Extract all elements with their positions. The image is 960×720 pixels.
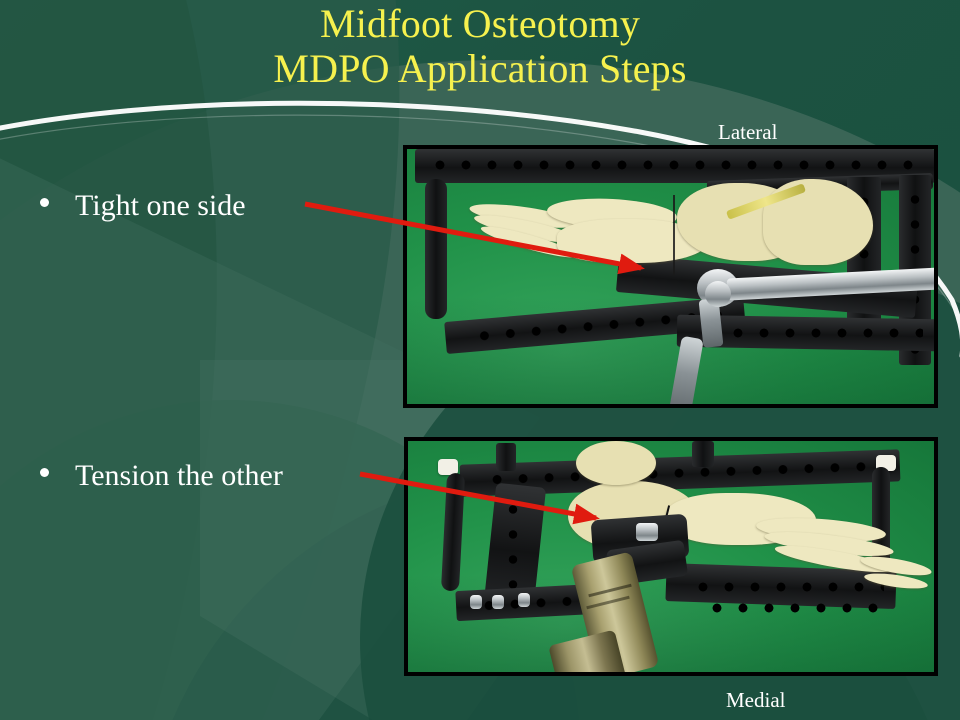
bullet-label: Tight one side	[75, 189, 246, 223]
fixator-bottom-rail-right-holes	[693, 323, 923, 343]
label-medial: Medial	[726, 688, 785, 713]
fixator-left-plate-holes	[500, 493, 526, 597]
title-line-2: MDPO Application Steps	[0, 47, 960, 92]
bullet-marker-icon	[40, 468, 49, 477]
lateral-view-photo	[403, 145, 938, 408]
clamp-fastener	[470, 595, 482, 609]
title-line-1: Midfoot Osteotomy	[320, 1, 640, 46]
presentation-slide: Midfoot Osteotomy MDPO Application Steps…	[0, 0, 960, 720]
clamp-fastener	[518, 593, 530, 607]
tibia-bone	[576, 441, 656, 485]
label-lateral: Lateral	[718, 120, 777, 145]
ratchet-bolt-head	[705, 281, 731, 307]
fixator-top-stub-right	[692, 441, 714, 467]
fixator-top-stub-left	[496, 443, 516, 471]
bullet-item-tension-the-other: Tension the other	[40, 459, 283, 493]
bullet-item-tight-one-side: Tight one side	[40, 189, 246, 223]
fixator-left-post	[425, 179, 447, 319]
fixator-bottom-rail-right-holes	[684, 577, 884, 597]
lateral-photo-content	[407, 149, 934, 404]
k-wire	[673, 195, 675, 275]
bullet-label: Tension the other	[75, 459, 283, 493]
clamp-fastener	[492, 595, 504, 609]
tensioner-bolt	[636, 523, 658, 541]
medial-photo-content	[408, 441, 934, 672]
bullet-marker-icon	[40, 198, 49, 207]
fixator-top-rail-holes	[421, 155, 921, 175]
slide-title: Midfoot Osteotomy MDPO Application Steps	[0, 2, 960, 92]
medial-view-photo	[404, 437, 938, 676]
fixator-bottom-rail-holes-row2	[698, 599, 878, 617]
